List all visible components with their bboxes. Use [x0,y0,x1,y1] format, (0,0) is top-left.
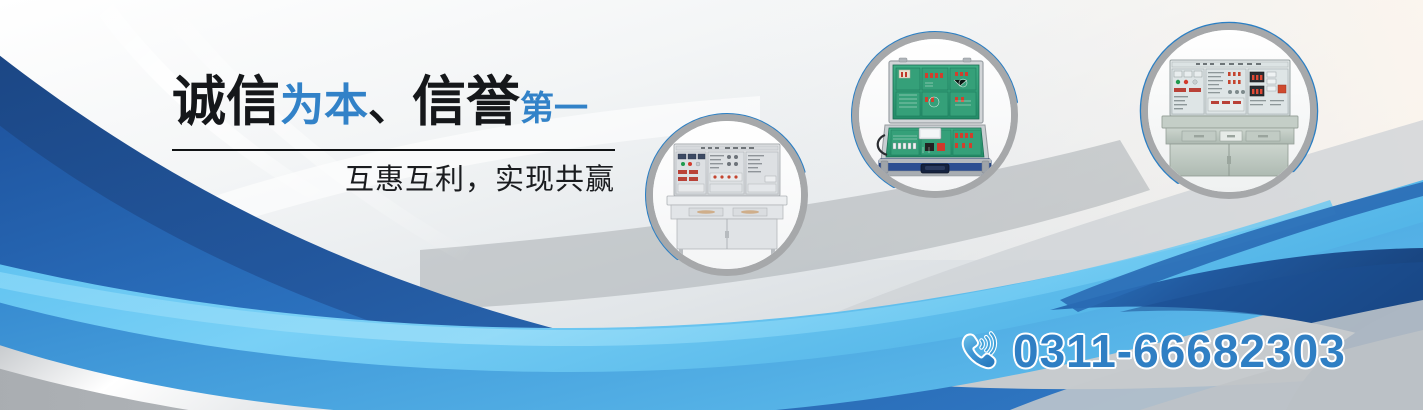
promotional-banner: 诚信为本、信誉第一 互惠互利，实现共赢 [0,0,1423,410]
electrical-training-workbench-image [653,121,801,269]
electrical-training-console-image [1148,30,1310,192]
phone-number[interactable]: 0311-66682303 [1013,326,1346,376]
product-circle-3[interactable] [1148,30,1310,192]
headline-accent1: 为本 [280,81,368,130]
portable-electronics-training-case-image [859,39,1011,191]
headline-part2: 信誉 [412,72,520,132]
headline-part1: 诚信 [172,72,280,132]
headline-separator: 、 [368,81,412,130]
slogan-subline: 互惠互利，实现共赢 [172,163,615,197]
headline-accent2: 第一 [520,90,588,128]
slogan-divider [172,149,615,151]
contact-phone-block[interactable]: 0311-66682303 [955,326,1346,376]
slogan-block: 诚信为本、信誉第一 互惠互利，实现共赢 [172,72,622,197]
product-circle-2[interactable] [859,39,1011,191]
phone-call-icon [955,328,1001,374]
headline: 诚信为本、信誉第一 [172,72,622,139]
product-circle-1[interactable] [653,121,801,269]
